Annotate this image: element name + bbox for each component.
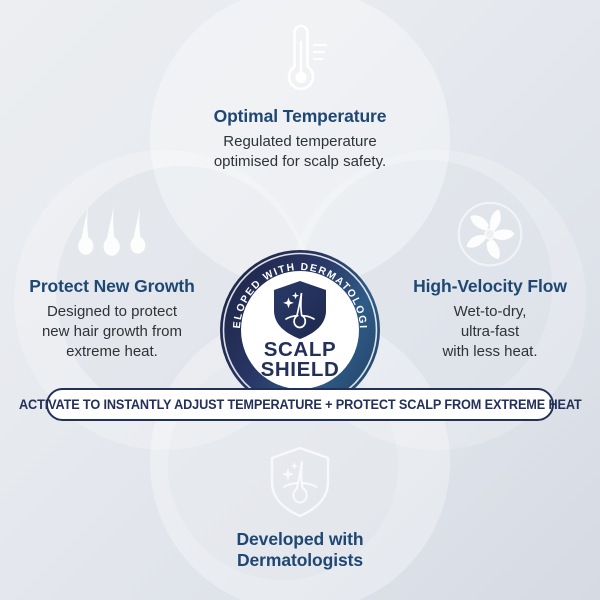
body-line: new hair growth from [6, 322, 218, 342]
panel-title: Protect New Growth [6, 276, 218, 297]
infographic-canvas: Optimal Temperature Regulated temperatur… [0, 0, 600, 600]
panel-title: High-Velocity Flow [384, 276, 596, 297]
body-line: extreme heat. [6, 342, 218, 362]
activate-banner: ACTIVATE TO INSTANTLY ADJUST TEMPERATURE… [46, 388, 554, 421]
panel-title: Optimal Temperature [150, 106, 450, 127]
panel-optimal-temperature: Optimal Temperature Regulated temperatur… [150, 22, 450, 172]
panel-body: Regulated temperature optimised for scal… [150, 132, 450, 172]
title-line: Dermatologists [150, 550, 450, 571]
body-line: Designed to protect [6, 302, 218, 322]
body-line: with less heat. [384, 342, 596, 362]
body-line: optimised for scalp safety. [150, 152, 450, 172]
panel-body: Wet-to-dry, ultra-fast with less heat. [384, 302, 596, 362]
panel-protect-new-growth: Protect New Growth Designed to protect n… [6, 200, 218, 361]
hair-follicles-icon [6, 200, 218, 272]
body-line: Regulated temperature [150, 132, 450, 152]
panel-title: Developed with Dermatologists [150, 529, 450, 570]
body-line: Wet-to-dry, [384, 302, 596, 322]
panel-body: Designed to protect new hair growth from… [6, 302, 218, 362]
badge-name-line2: SHIELD [261, 358, 340, 381]
panel-developed-with-dermatologists: Developed with Dermatologists [150, 443, 450, 570]
thermometer-icon [150, 22, 450, 100]
activate-banner-text: ACTIVATE TO INSTANTLY ADJUST TEMPERATURE… [19, 397, 582, 413]
panel-high-velocity-flow: High-Velocity Flow Wet-to-dry, ultra-fas… [384, 200, 596, 361]
title-line: Developed with [150, 529, 450, 550]
fan-icon [384, 200, 596, 272]
shield-follicle-icon [150, 443, 450, 521]
body-line: ultra-fast [384, 322, 596, 342]
